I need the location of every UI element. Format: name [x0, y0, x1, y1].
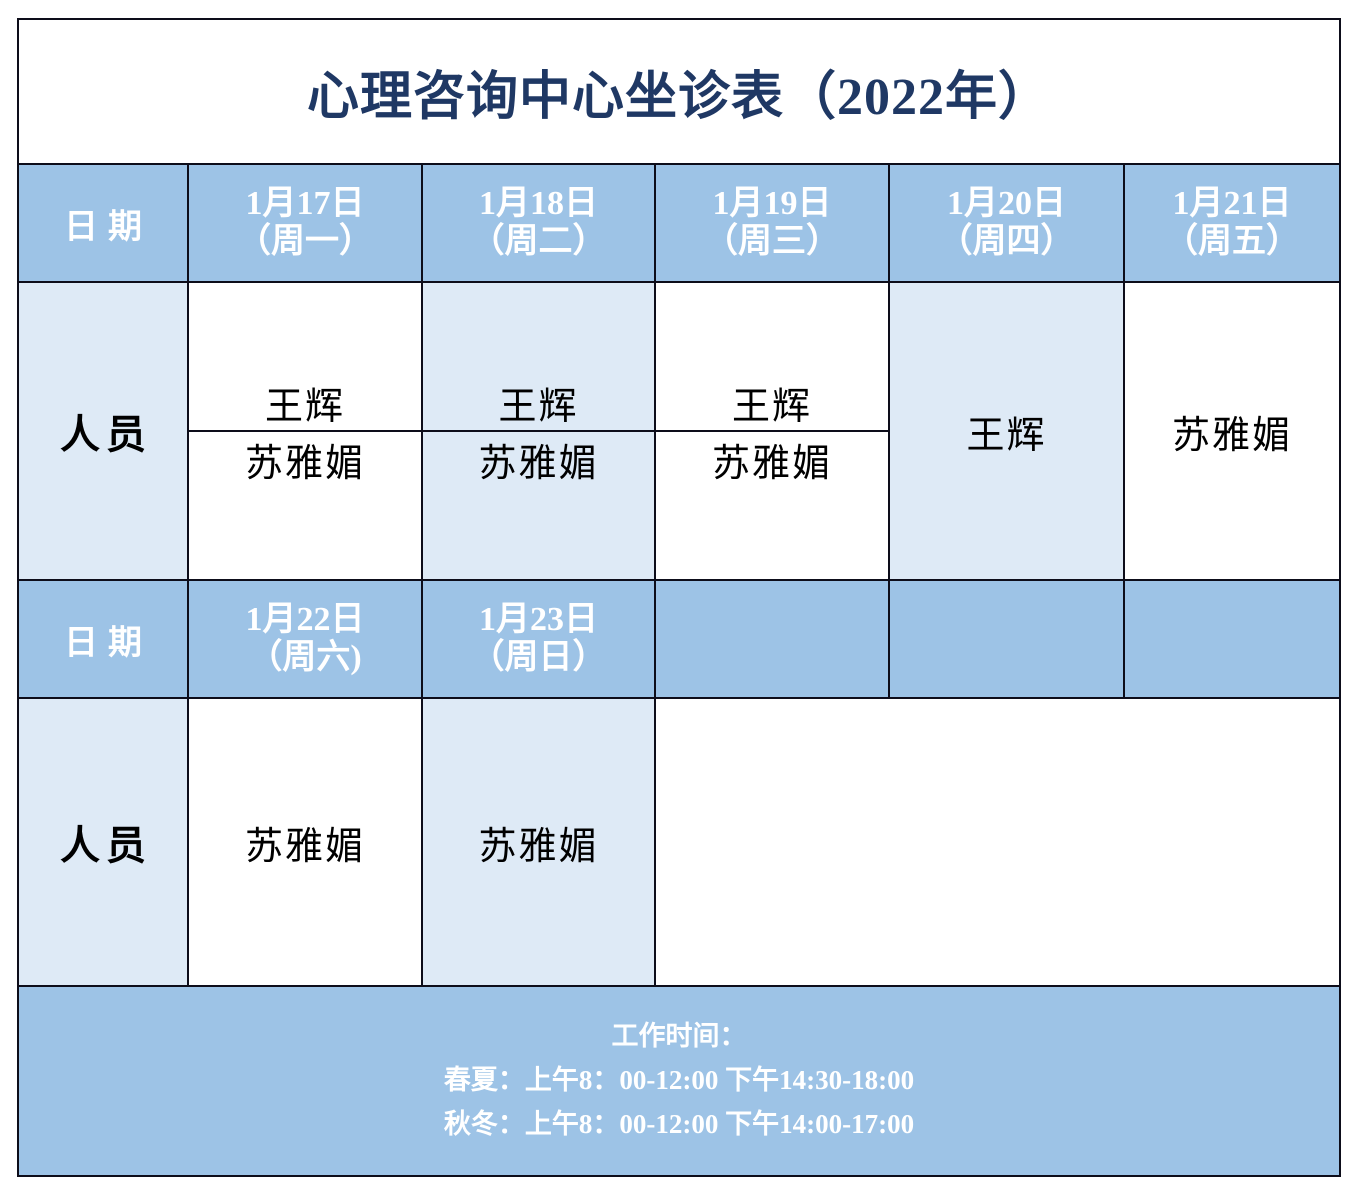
- date-cell-empty-1: [655, 580, 889, 698]
- date-cell-jan18: 1月18日 （周二）: [422, 164, 655, 282]
- weekday-text: （周二）: [423, 223, 654, 261]
- row-header-staff-week1: 人员: [18, 282, 188, 580]
- row-header-date-week1: 日期: [18, 164, 188, 282]
- working-hours-autumn-winter: 秋冬：上午8：00-12:00 下午14:00-17:00: [19, 1103, 1339, 1147]
- staff-cell-jan21: 苏雅媚: [1124, 282, 1340, 580]
- staff-cell-jan22: 苏雅媚: [188, 698, 422, 986]
- date-cell-jan22: 1月22日 （周六): [188, 580, 422, 698]
- week2-staff-row: 人员 苏雅媚 苏雅媚: [18, 698, 1340, 986]
- schedule-table: 心理咨询中心坐诊表（2022年） 日期 1月17日 （周一） 1月18日 （周二…: [17, 18, 1341, 1177]
- staff-name-top: 王辉: [656, 375, 888, 431]
- staff-cell-jan18: 王辉 苏雅媚: [422, 282, 655, 580]
- date-text: 1月22日: [189, 601, 421, 639]
- date-cell-jan19: 1月19日 （周三）: [655, 164, 889, 282]
- week1-staff-row: 人员 王辉 苏雅媚 王辉 苏雅媚 王辉 苏雅媚 王辉: [18, 282, 1340, 580]
- staff-cell-jan17: 王辉 苏雅媚: [188, 282, 422, 580]
- date-cell-jan23: 1月23日 （周日）: [422, 580, 655, 698]
- title-row: 心理咨询中心坐诊表（2022年）: [18, 19, 1340, 164]
- working-hours-heading: 工作时间：: [19, 1015, 1339, 1059]
- page-root: 心理咨询中心坐诊表（2022年） 日期 1月17日 （周一） 1月18日 （周二…: [0, 0, 1356, 1196]
- weekday-text: （周三）: [656, 223, 888, 261]
- footer-row: 工作时间： 春夏：上午8：00-12:00 下午14:30-18:00 秋冬：上…: [18, 986, 1340, 1176]
- staff-name-bottom: 苏雅媚: [656, 431, 888, 487]
- date-text: 1月20日: [890, 185, 1123, 223]
- page-title: 心理咨询中心坐诊表（2022年）: [18, 19, 1340, 164]
- date-cell-jan21: 1月21日 （周五）: [1124, 164, 1340, 282]
- staff-name-bottom: 苏雅媚: [423, 431, 654, 487]
- week1-date-row: 日期 1月17日 （周一） 1月18日 （周二） 1月19日 （周三） 1月20…: [18, 164, 1340, 282]
- weekday-text: （周一）: [189, 223, 421, 261]
- staff-cell-jan23: 苏雅媚: [422, 698, 655, 986]
- row-header-date-week2: 日期: [18, 580, 188, 698]
- row-header-staff-week2: 人员: [18, 698, 188, 986]
- date-cell-empty-3: [1124, 580, 1340, 698]
- weekday-text: （周六): [189, 639, 421, 677]
- week2-date-row: 日期 1月22日 （周六) 1月23日 （周日）: [18, 580, 1340, 698]
- date-text: 1月21日: [1125, 185, 1339, 223]
- date-cell-empty-2: [889, 580, 1124, 698]
- weekday-text: （周日）: [423, 639, 654, 677]
- weekday-text: （周五）: [1125, 223, 1339, 261]
- date-cell-jan20: 1月20日 （周四）: [889, 164, 1124, 282]
- date-text: 1月19日: [656, 185, 888, 223]
- working-hours-spring-summer: 春夏：上午8：00-12:00 下午14:30-18:00: [19, 1059, 1339, 1103]
- staff-cell-empty-merged: [655, 698, 1340, 986]
- date-text: 1月17日: [189, 185, 421, 223]
- staff-cell-jan19: 王辉 苏雅媚: [655, 282, 889, 580]
- staff-name-top: 王辉: [423, 375, 654, 431]
- date-cell-jan17: 1月17日 （周一）: [188, 164, 422, 282]
- working-hours-note: 工作时间： 春夏：上午8：00-12:00 下午14:30-18:00 秋冬：上…: [18, 986, 1340, 1176]
- staff-name-top: 王辉: [189, 375, 421, 431]
- staff-cell-jan20: 王辉: [889, 282, 1124, 580]
- weekday-text: （周四）: [890, 223, 1123, 261]
- staff-name-bottom: 苏雅媚: [189, 431, 421, 487]
- date-text: 1月23日: [423, 601, 654, 639]
- date-text: 1月18日: [423, 185, 654, 223]
